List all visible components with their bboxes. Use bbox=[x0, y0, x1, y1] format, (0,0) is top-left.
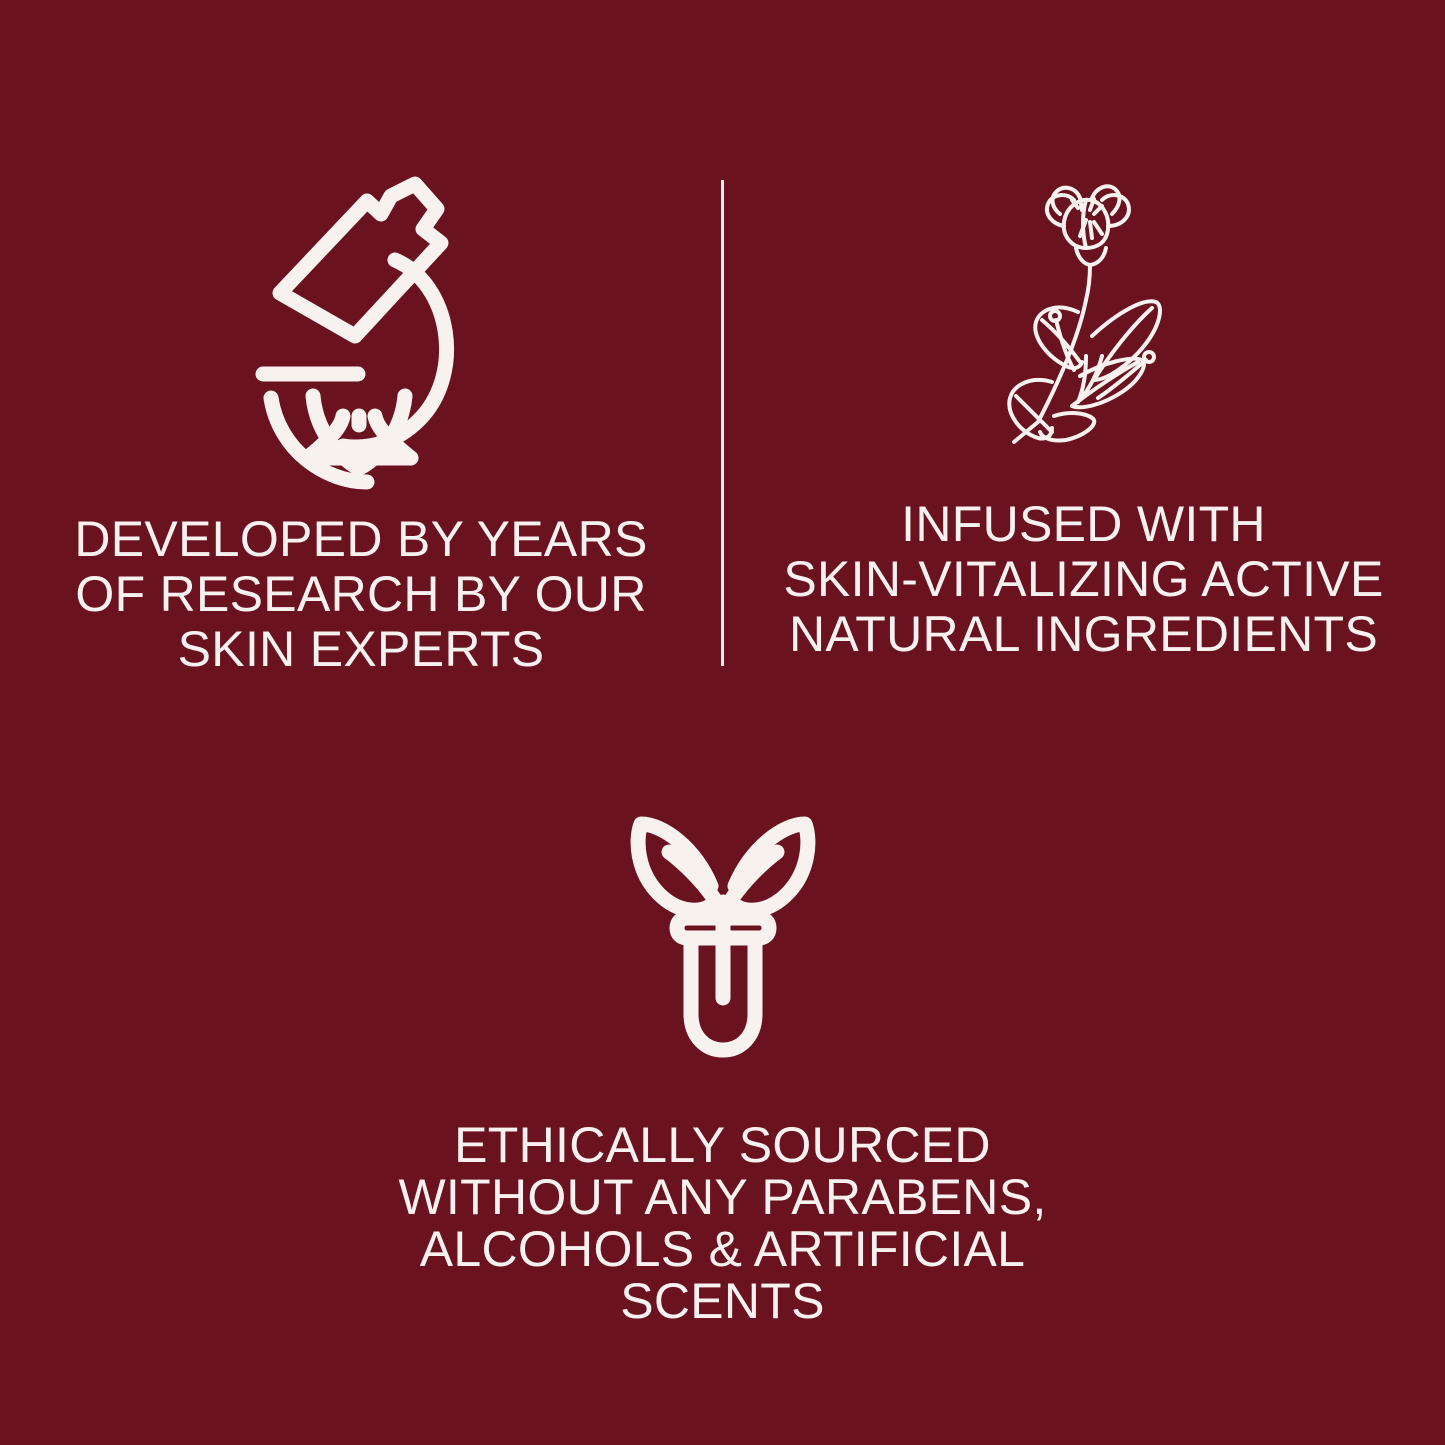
feature-right-caption: INFUSED WITH SKIN-VITALIZING ACTIVE NATU… bbox=[783, 497, 1383, 662]
column-divider bbox=[721, 180, 724, 666]
feature-natural-ingredients: INFUSED WITH SKIN-VITALIZING ACTIVE NATU… bbox=[722, 0, 1445, 662]
feature-ethically-sourced: ETHICALLY SOURCED WITHOUT ANY PARABENS, … bbox=[0, 790, 1445, 1327]
benefits-panel: DEVELOPED BY YEARS OF RESEARCH BY OUR SK… bbox=[0, 0, 1445, 1445]
microscope-icon bbox=[255, 176, 467, 466]
test-tube-sprout-icon bbox=[625, 790, 821, 1065]
top-feature-row: DEVELOPED BY YEARS OF RESEARCH BY OUR SK… bbox=[0, 0, 1445, 720]
feature-bottom-caption: ETHICALLY SOURCED WITHOUT ANY PARABENS, … bbox=[398, 1119, 1046, 1327]
feature-left-caption: DEVELOPED BY YEARS OF RESEARCH BY OUR SK… bbox=[74, 512, 647, 677]
feature-developed-by-research: DEVELOPED BY YEARS OF RESEARCH BY OUR SK… bbox=[0, 0, 722, 677]
flower-botanical-icon bbox=[994, 170, 1174, 445]
